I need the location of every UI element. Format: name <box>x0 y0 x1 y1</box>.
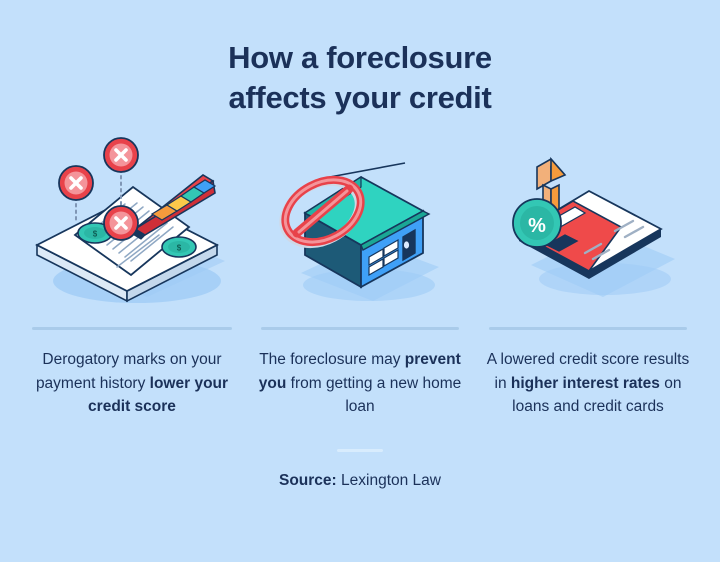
caption-foreclosure-house: The foreclosure may prevent you from get… <box>258 348 463 419</box>
footer: Source: Lexington Law <box>0 449 720 490</box>
svg-text:$: $ <box>177 244 182 253</box>
page-title-line-2: affects your credit <box>0 78 720 118</box>
caption-interest-rates: A lowered credit score results in higher… <box>486 348 691 419</box>
x-circle-icon <box>104 138 138 172</box>
derogatory-marks-document-illustration: $ $ <box>18 141 246 311</box>
page-title: How a foreclosure affects your credit <box>0 0 720 117</box>
column-derogatory-marks: $ $ <box>18 141 246 419</box>
dollar-coin-icon: $ <box>162 237 196 257</box>
source-attribution: Source: Lexington Law <box>279 472 441 490</box>
footer-divider <box>337 449 383 452</box>
page-title-line-1: How a foreclosure <box>0 38 720 78</box>
caption-text-pre: The foreclosure may <box>259 351 405 368</box>
x-circle-icon <box>59 166 93 200</box>
svg-text:$: $ <box>93 230 98 239</box>
source-value: Lexington Law <box>341 472 441 489</box>
column-divider <box>32 327 232 330</box>
column-divider <box>489 327 687 330</box>
column-foreclosure-house: The foreclosure may prevent you from get… <box>246 141 474 419</box>
infographic-root: { "title": { "line1": "How a foreclosure… <box>0 0 720 562</box>
caption-text-post: from getting a new home loan <box>286 375 461 416</box>
caption-text-bold: higher interest rates <box>511 375 660 392</box>
caption-derogatory-marks: Derogatory marks on your payment history… <box>30 348 235 419</box>
source-label: Source: <box>279 472 337 489</box>
svg-text:%: % <box>528 215 546 237</box>
x-circle-icon <box>104 206 138 240</box>
column-interest-rates: % A lowered credit score results in high… <box>474 141 702 419</box>
percent-coin-icon: % <box>513 199 561 247</box>
columns-container: $ $ <box>0 141 720 419</box>
foreclosed-house-illustration <box>246 141 474 311</box>
credit-card-interest-illustration: % <box>474 141 702 311</box>
column-divider <box>261 327 459 330</box>
